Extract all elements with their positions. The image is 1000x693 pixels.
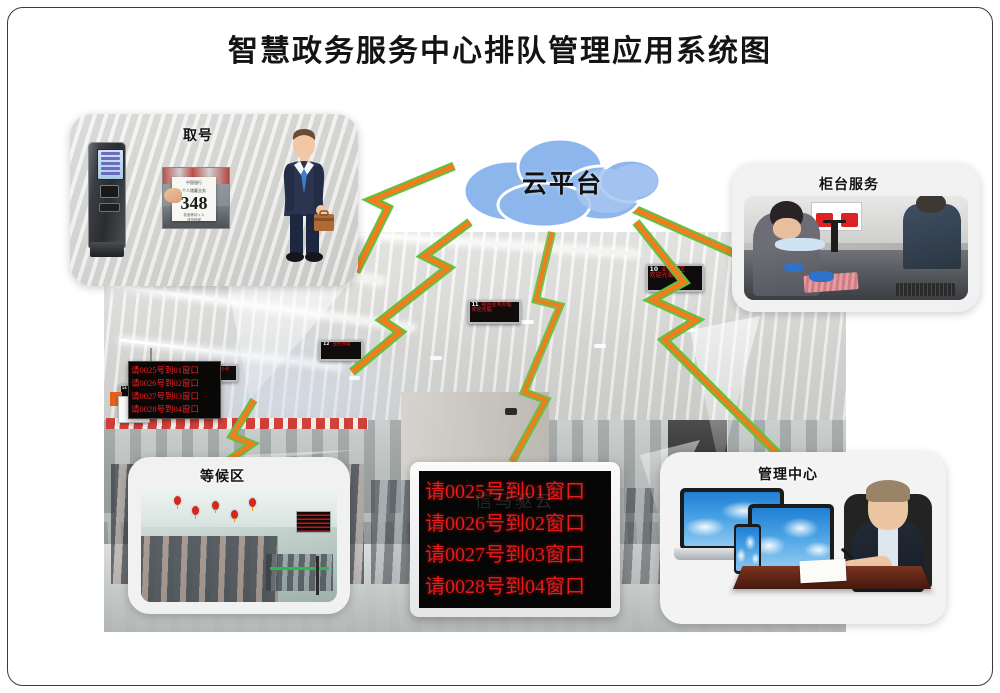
counter-sign-text: 欢迎光临: [650, 272, 674, 279]
poster-canvas: 智慧政务服务中心排队管理应用系统图 10 业务专区 欢迎光临 11 综合业务办理…: [0, 0, 1000, 693]
led-small-line: 请0025号到01窗口: [130, 366, 219, 375]
counter-sign-text: 业务办理: [332, 342, 350, 347]
hall-led-display-small: 请0025号到01窗口 请0026号到02窗口 请0027号到03窗口 请002…: [128, 361, 221, 419]
waiting-seats-row: [266, 554, 333, 590]
cloud-platform-node[interactable]: 云平台: [452, 133, 667, 231]
led-call-line: 请0026号到02窗口: [425, 514, 605, 534]
panel-title-take-number: 取号: [183, 125, 213, 145]
ceiling-downlight: [520, 320, 534, 324]
queue-guide-rail: [270, 567, 329, 570]
face-mask-icon: [775, 238, 824, 252]
waiting-area-photo: [141, 488, 337, 602]
ceiling-downlight: [594, 344, 606, 348]
queue-call-led-board[interactable]: 信马驱云 请0025号到01窗口 请0026号到02窗口 请0027号到03窗口…: [410, 462, 620, 617]
queue-stanchion: [316, 556, 319, 595]
led-bracket: [150, 348, 152, 362]
ticket-header: 中国银行: [172, 180, 216, 185]
panel-title-management-center: 管理中心: [758, 464, 818, 484]
customer-at-counter: [903, 204, 961, 268]
counter-sign: 12 业务办理: [319, 340, 363, 361]
red-lantern-icon: [249, 498, 256, 507]
kiosk-body: [88, 142, 126, 248]
panel-waiting-area[interactable]: 等候区: [128, 457, 350, 614]
gloved-hand: [784, 263, 804, 272]
kiosk-base: [90, 242, 124, 257]
kiosk-screen[interactable]: [97, 149, 124, 180]
panel-take-number[interactable]: 中国银行 个人储蓄业务 348 前面等待 3 人 请您稍候: [70, 114, 358, 286]
keyboard-icon: [896, 283, 954, 295]
led-call-line: 请0025号到01窗口: [425, 482, 605, 502]
ceiling-downlight: [683, 328, 695, 332]
cloud-platform-label: 云平台: [452, 133, 667, 231]
red-lantern-icon: [231, 510, 238, 519]
led-screen: 信马驱云 请0025号到01窗口 请0026号到02窗口 请0027号到03窗口…: [419, 471, 611, 608]
panel-title-counter-service: 柜台服务: [819, 174, 879, 194]
red-lantern-icon: [212, 501, 219, 510]
ceiling-downlight: [430, 356, 442, 360]
gloved-hand: [809, 271, 834, 282]
page-title: 智慧政务服务中心排队管理应用系统图: [0, 26, 1000, 70]
document-scanner: [831, 221, 838, 252]
led-small-line: 请0028号到04窗口: [130, 405, 219, 414]
panel-counter-service[interactable]: 柜台服务: [732, 164, 980, 312]
counter-sign-text: 欢迎光临: [472, 307, 492, 313]
queue-ticket-photo: 中国银行 个人储蓄业务 348 前面等待 3 人 请您稍候: [162, 167, 230, 229]
ticket-kiosk-icon[interactable]: [84, 142, 130, 258]
panel-management-center[interactable]: 管理中心: [660, 452, 946, 624]
counter-sign: 10 业务专区 欢迎光临: [646, 264, 704, 292]
counter-sign-number: 12: [323, 343, 329, 348]
counter-sign-number: 14: [122, 387, 127, 391]
led-call-line: 请0028号到04窗口: [425, 577, 605, 597]
customer-figure-icon: [274, 128, 336, 268]
led-small-line: 请0027号到03窗口: [130, 392, 219, 401]
panel-title-waiting-area: 等候区: [200, 466, 245, 486]
waiting-seats-row: [141, 536, 278, 602]
desk-document: [799, 559, 846, 583]
ceiling-downlight: [349, 376, 360, 380]
kiosk-card-slot: [99, 203, 120, 212]
kiosk-printer-slot: [100, 185, 119, 198]
waiting-area-led-sign: [296, 511, 331, 534]
counter-service-photo: [744, 196, 968, 300]
counter-sign: 11 综合业务办理 欢迎光临: [468, 300, 521, 324]
ticket-footer: 请您稍候: [172, 218, 216, 223]
manager-hair: [866, 480, 910, 502]
security-camera-icon: [505, 408, 517, 415]
led-small-line: 请0026号到02窗口: [130, 379, 219, 388]
led-call-line: 请0027号到03窗口: [425, 545, 605, 565]
hand-icon: [164, 188, 182, 203]
